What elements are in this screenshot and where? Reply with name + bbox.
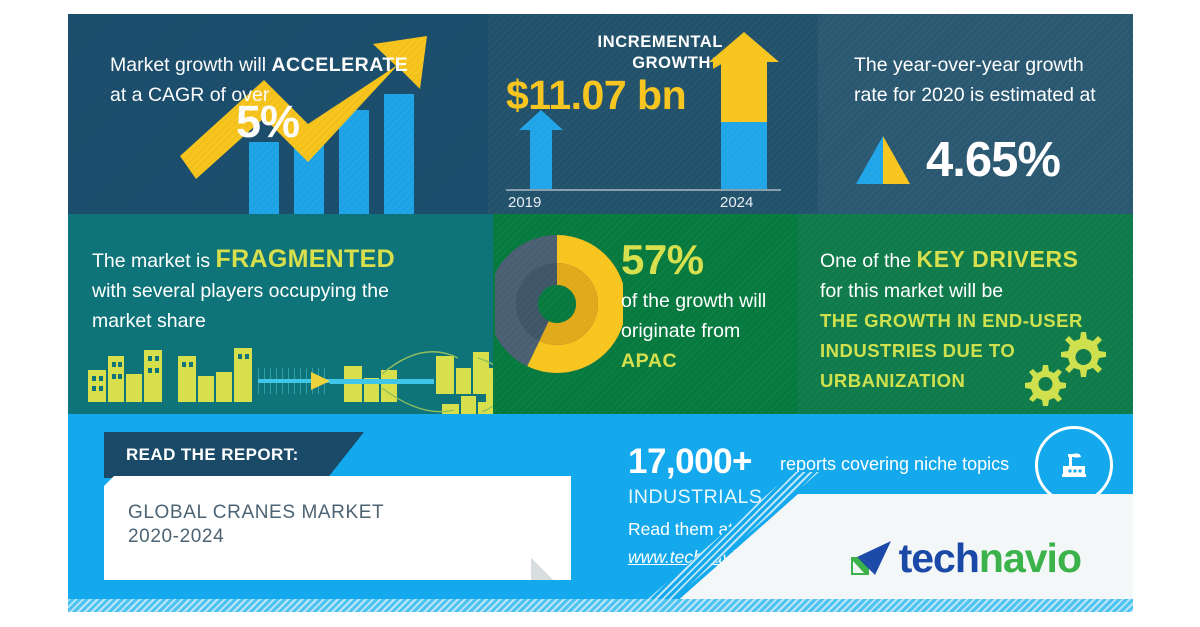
arrow-bars-icon: [488, 14, 818, 214]
yoy-growth-panel: The year-over-year growth rate for 2020 …: [818, 14, 1133, 214]
yoy-line2: rate for 2020 is estimated at: [854, 84, 1096, 106]
report-panel: READ THE REPORT: GLOBAL CRANES MARKET 20…: [68, 414, 1133, 612]
yoy-value-row: 4.65%: [854, 132, 1060, 188]
apac-region: APAC: [621, 350, 677, 372]
city-buildings-fragmentation-icon: [82, 332, 493, 414]
apac-percentage: 57%: [621, 236, 704, 284]
drivers-line2: for this market will be: [820, 280, 1003, 302]
bottom-hatch-strip: [68, 599, 1133, 612]
cagr-panel: Market growth will ACCELERATE at a CAGR …: [68, 14, 488, 214]
yoy-line1: The year-over-year growth: [854, 54, 1084, 76]
drivers-key-drivers: KEY DRIVERS: [916, 246, 1078, 272]
apac-line2: originate from: [621, 320, 740, 342]
report-years: 2020-2024: [128, 526, 224, 548]
key-drivers-panel: One of the KEY DRIVERS for this market w…: [798, 214, 1133, 414]
fragmented-panel: The market is FRAGMENTED with several pl…: [68, 214, 493, 414]
read-the-report-label: READ THE REPORT:: [126, 445, 299, 465]
frag-line1-a: The market is: [92, 250, 216, 272]
report-category: INDUSTRIALS: [628, 486, 762, 509]
drivers-line1-a: One of the: [820, 250, 916, 272]
factory-icon: [1035, 426, 1113, 504]
cagr-value: 5%: [236, 96, 299, 148]
frag-fragmented: FRAGMENTED: [216, 245, 395, 273]
top-row: Market growth will ACCELERATE at a CAGR …: [68, 14, 1133, 214]
driver-detail-line3: URBANIZATION: [820, 370, 965, 391]
yoy-value: 4.65%: [926, 132, 1060, 188]
incremental-growth-panel: INCREMENTAL GROWTH $11.07 bn 2019 2024: [488, 14, 818, 214]
fragmented-text: The market is FRAGMENTED with several pl…: [92, 244, 482, 336]
yoy-text: The year-over-year growth rate for 2020 …: [854, 50, 1124, 110]
driver-detail-line2: INDUSTRIES DUE TO: [820, 340, 1015, 361]
triangle-up-icon: [854, 134, 912, 186]
axis-line: [506, 189, 781, 191]
infographic: Market growth will ACCELERATE at a CAGR …: [68, 14, 1133, 612]
report-title: GLOBAL CRANES MARKET: [128, 502, 384, 524]
read-the-report-tab[interactable]: READ THE REPORT:: [104, 432, 364, 478]
donut-chart-icon: [495, 232, 623, 382]
apac-text: of the growth will originate from APAC: [621, 286, 798, 376]
cagr-accelerate: ACCELERATE: [271, 54, 408, 76]
technavio-logo: technavio: [847, 535, 1081, 582]
logo-text-navio: navio: [979, 535, 1081, 582]
bottom-row: READ THE REPORT: GLOBAL CRANES MARKET 20…: [68, 414, 1133, 612]
year-label-start: 2019: [508, 194, 541, 211]
middle-row: The market is FRAGMENTED with several pl…: [68, 214, 1133, 414]
frag-line3: market share: [92, 310, 206, 332]
infographic-canvas: Market growth will ACCELERATE at a CAGR …: [0, 0, 1200, 627]
card-fold-corner: [531, 558, 553, 580]
apac-line1: of the growth will: [621, 290, 766, 312]
gears-icon: [1009, 326, 1119, 406]
year-label-end: 2024: [720, 194, 753, 211]
apac-panel: 57% of the growth will originate from AP…: [493, 214, 798, 414]
report-count-suffix: reports covering niche topics: [780, 454, 1009, 475]
technavio-arrow-icon: [847, 537, 895, 581]
logo-text-tech: tech: [899, 535, 979, 582]
cagr-line1-a: Market growth will: [110, 54, 271, 76]
frag-line2: with several players occupying the: [92, 280, 389, 302]
report-count: 17,000+: [628, 442, 752, 482]
